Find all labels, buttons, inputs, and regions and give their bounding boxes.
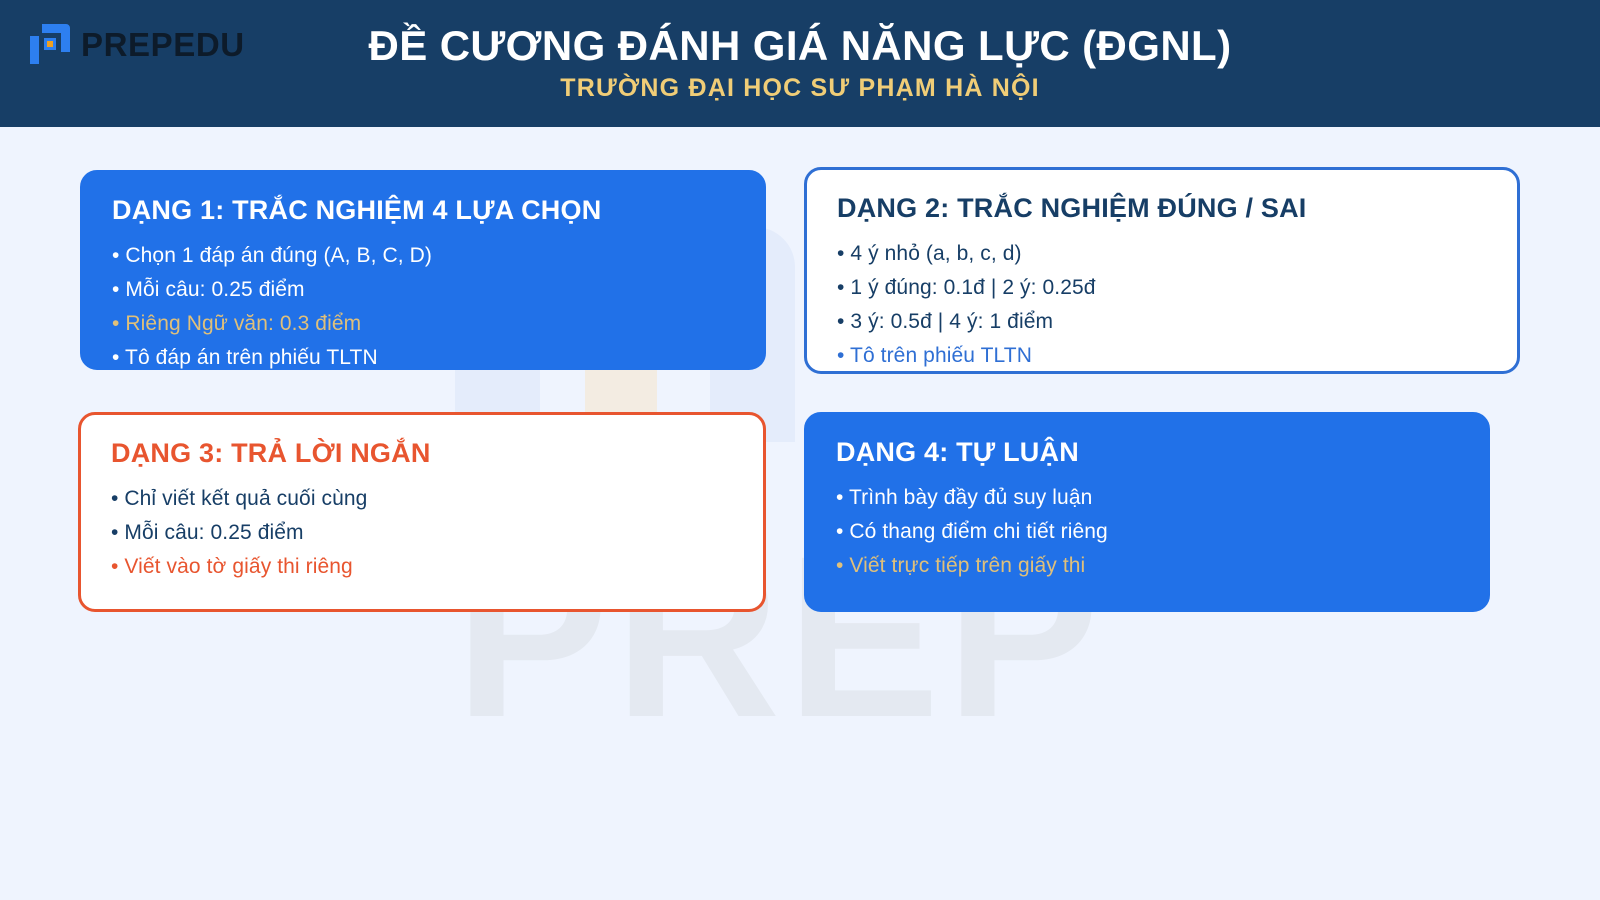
card-dang-3: DẠNG 3: TRẢ LỜI NGẮN Chỉ viết kết quả cu…	[78, 412, 766, 612]
list-item: Chọn 1 đáp án đúng (A, B, C, D)	[112, 239, 734, 273]
list-item: Riêng Ngữ văn: 0.3 điểm	[112, 307, 734, 341]
list-item: Viết trực tiếp trên giấy thi	[836, 549, 1458, 583]
list-item: 4 ý nhỏ (a, b, c, d)	[837, 237, 1487, 271]
list-item: Tô đáp án trên phiếu TLTN	[112, 341, 734, 375]
list-item: Tô trên phiếu TLTN	[837, 339, 1487, 373]
list-item: Viết vào tờ giấy thi riêng	[111, 550, 733, 584]
page-title: ĐỀ CƯƠNG ĐÁNH GIÁ NĂNG LỰC (ĐGNL)	[0, 22, 1600, 69]
card-title: DẠNG 4: TỰ LUẬN	[836, 436, 1458, 468]
list-item: 1 ý đúng: 0.1đ | 2 ý: 0.25đ	[837, 271, 1487, 305]
card-title: DẠNG 1: TRẮC NGHIỆM 4 LỰA CHỌN	[112, 194, 734, 226]
cards-grid: DẠNG 1: TRẮC NGHIỆM 4 LỰA CHỌN Chọn 1 đá…	[0, 127, 1600, 900]
card-dang-4: DẠNG 4: TỰ LUẬN Trình bày đầy đủ suy luậ…	[804, 412, 1490, 612]
card-title: DẠNG 2: TRẮC NGHIỆM ĐÚNG / SAI	[837, 192, 1487, 224]
page-subtitle: TRƯỜNG ĐẠI HỌC SƯ PHẠM HÀ NỘI	[0, 73, 1600, 103]
list-item: 3 ý: 0.5đ | 4 ý: 1 điểm	[837, 305, 1487, 339]
card-dang-2: DẠNG 2: TRẮC NGHIỆM ĐÚNG / SAI 4 ý nhỏ (…	[804, 167, 1520, 374]
card-dang-1: DẠNG 1: TRẮC NGHIỆM 4 LỰA CHỌN Chọn 1 đá…	[80, 170, 766, 370]
card-bullet-list: Chỉ viết kết quả cuối cùng Mỗi câu: 0.25…	[111, 482, 733, 584]
page-header: PREPEDU ĐỀ CƯƠNG ĐÁNH GIÁ NĂNG LỰC (ĐGNL…	[0, 0, 1600, 127]
list-item: Mỗi câu: 0.25 điểm	[111, 516, 733, 550]
card-bullet-list: Chọn 1 đáp án đúng (A, B, C, D) Mỗi câu:…	[112, 239, 734, 375]
list-item: Có thang điểm chi tiết riêng	[836, 515, 1458, 549]
list-item: Trình bày đầy đủ suy luận	[836, 481, 1458, 515]
card-bullet-list: Trình bày đầy đủ suy luận Có thang điểm …	[836, 481, 1458, 583]
list-item: Mỗi câu: 0.25 điểm	[112, 273, 734, 307]
card-bullet-list: 4 ý nhỏ (a, b, c, d) 1 ý đúng: 0.1đ | 2 …	[837, 237, 1487, 373]
card-title: DẠNG 3: TRẢ LỜI NGẮN	[111, 437, 733, 469]
header-title-block: ĐỀ CƯƠNG ĐÁNH GIÁ NĂNG LỰC (ĐGNL) TRƯỜNG…	[0, 22, 1600, 103]
list-item: Chỉ viết kết quả cuối cùng	[111, 482, 733, 516]
